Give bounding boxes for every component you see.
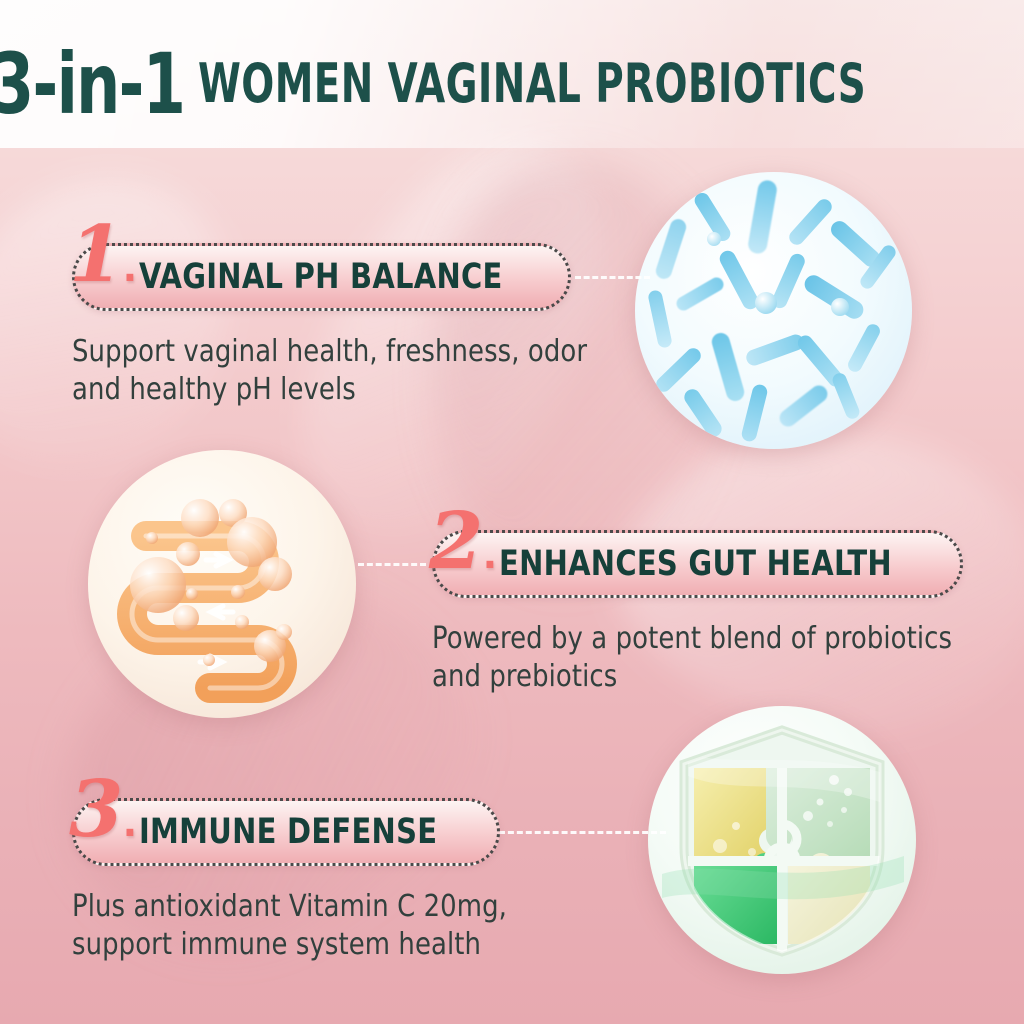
feature-number-1: 1	[69, 209, 123, 300]
title-subtitle: WOMEN VAGINAL PROBIOTICS	[198, 57, 866, 111]
feature-numeral-1: 1.	[69, 216, 137, 294]
feature-number-3: 3	[69, 764, 123, 855]
shield-circle-image	[648, 706, 916, 974]
feature-description-1: Support vaginal health, freshness, odor …	[72, 333, 590, 410]
feature-pill-3[interactable]: 3. IMMUNE DEFENSE	[72, 798, 500, 866]
feature-number-dot-1: .	[123, 239, 136, 292]
feature-block-2: 2. ENHANCES GUT HEALTH Powered by a pote…	[432, 530, 992, 697]
feature-heading-2: ENHANCES GUT HEALTH	[499, 547, 892, 582]
feature-description-2: Powered by a potent blend of probiotics …	[432, 620, 970, 697]
feature-block-3: 3. IMMUNE DEFENSE Plus antioxidant Vitam…	[72, 798, 572, 965]
feature-heading-1: VAGINAL PH BALANCE	[139, 260, 503, 295]
bacteria-circle-image	[635, 172, 912, 449]
feature-block-1: 1. VAGINAL PH BALANCE Support vaginal he…	[72, 243, 612, 410]
shield-illustration	[648, 706, 916, 974]
gut-circle-image	[88, 450, 356, 718]
feature-number-dot-2: .	[483, 526, 496, 579]
gut-illustration	[88, 450, 356, 718]
feature-pill-2[interactable]: 2. ENHANCES GUT HEALTH	[432, 530, 963, 598]
connector-line-2	[358, 563, 426, 566]
feature-numeral-2: 2.	[429, 503, 497, 581]
feature-pill-1[interactable]: 1. VAGINAL PH BALANCE	[72, 243, 571, 311]
infographic-canvas: 3-in-1 WOMEN VAGINAL PROBIOTICS	[0, 0, 1024, 1024]
title-main: 3-in-1	[0, 42, 184, 126]
page-title: 3-in-1 WOMEN VAGINAL PROBIOTICS	[0, 34, 1024, 134]
feature-numeral-3: 3.	[69, 771, 137, 849]
feature-heading-3: IMMUNE DEFENSE	[139, 815, 437, 850]
feature-description-3: Plus antioxidant Vitamin C 20mg, support…	[72, 888, 523, 965]
feature-number-dot-3: .	[123, 794, 136, 847]
feature-number-2: 2	[429, 496, 483, 587]
